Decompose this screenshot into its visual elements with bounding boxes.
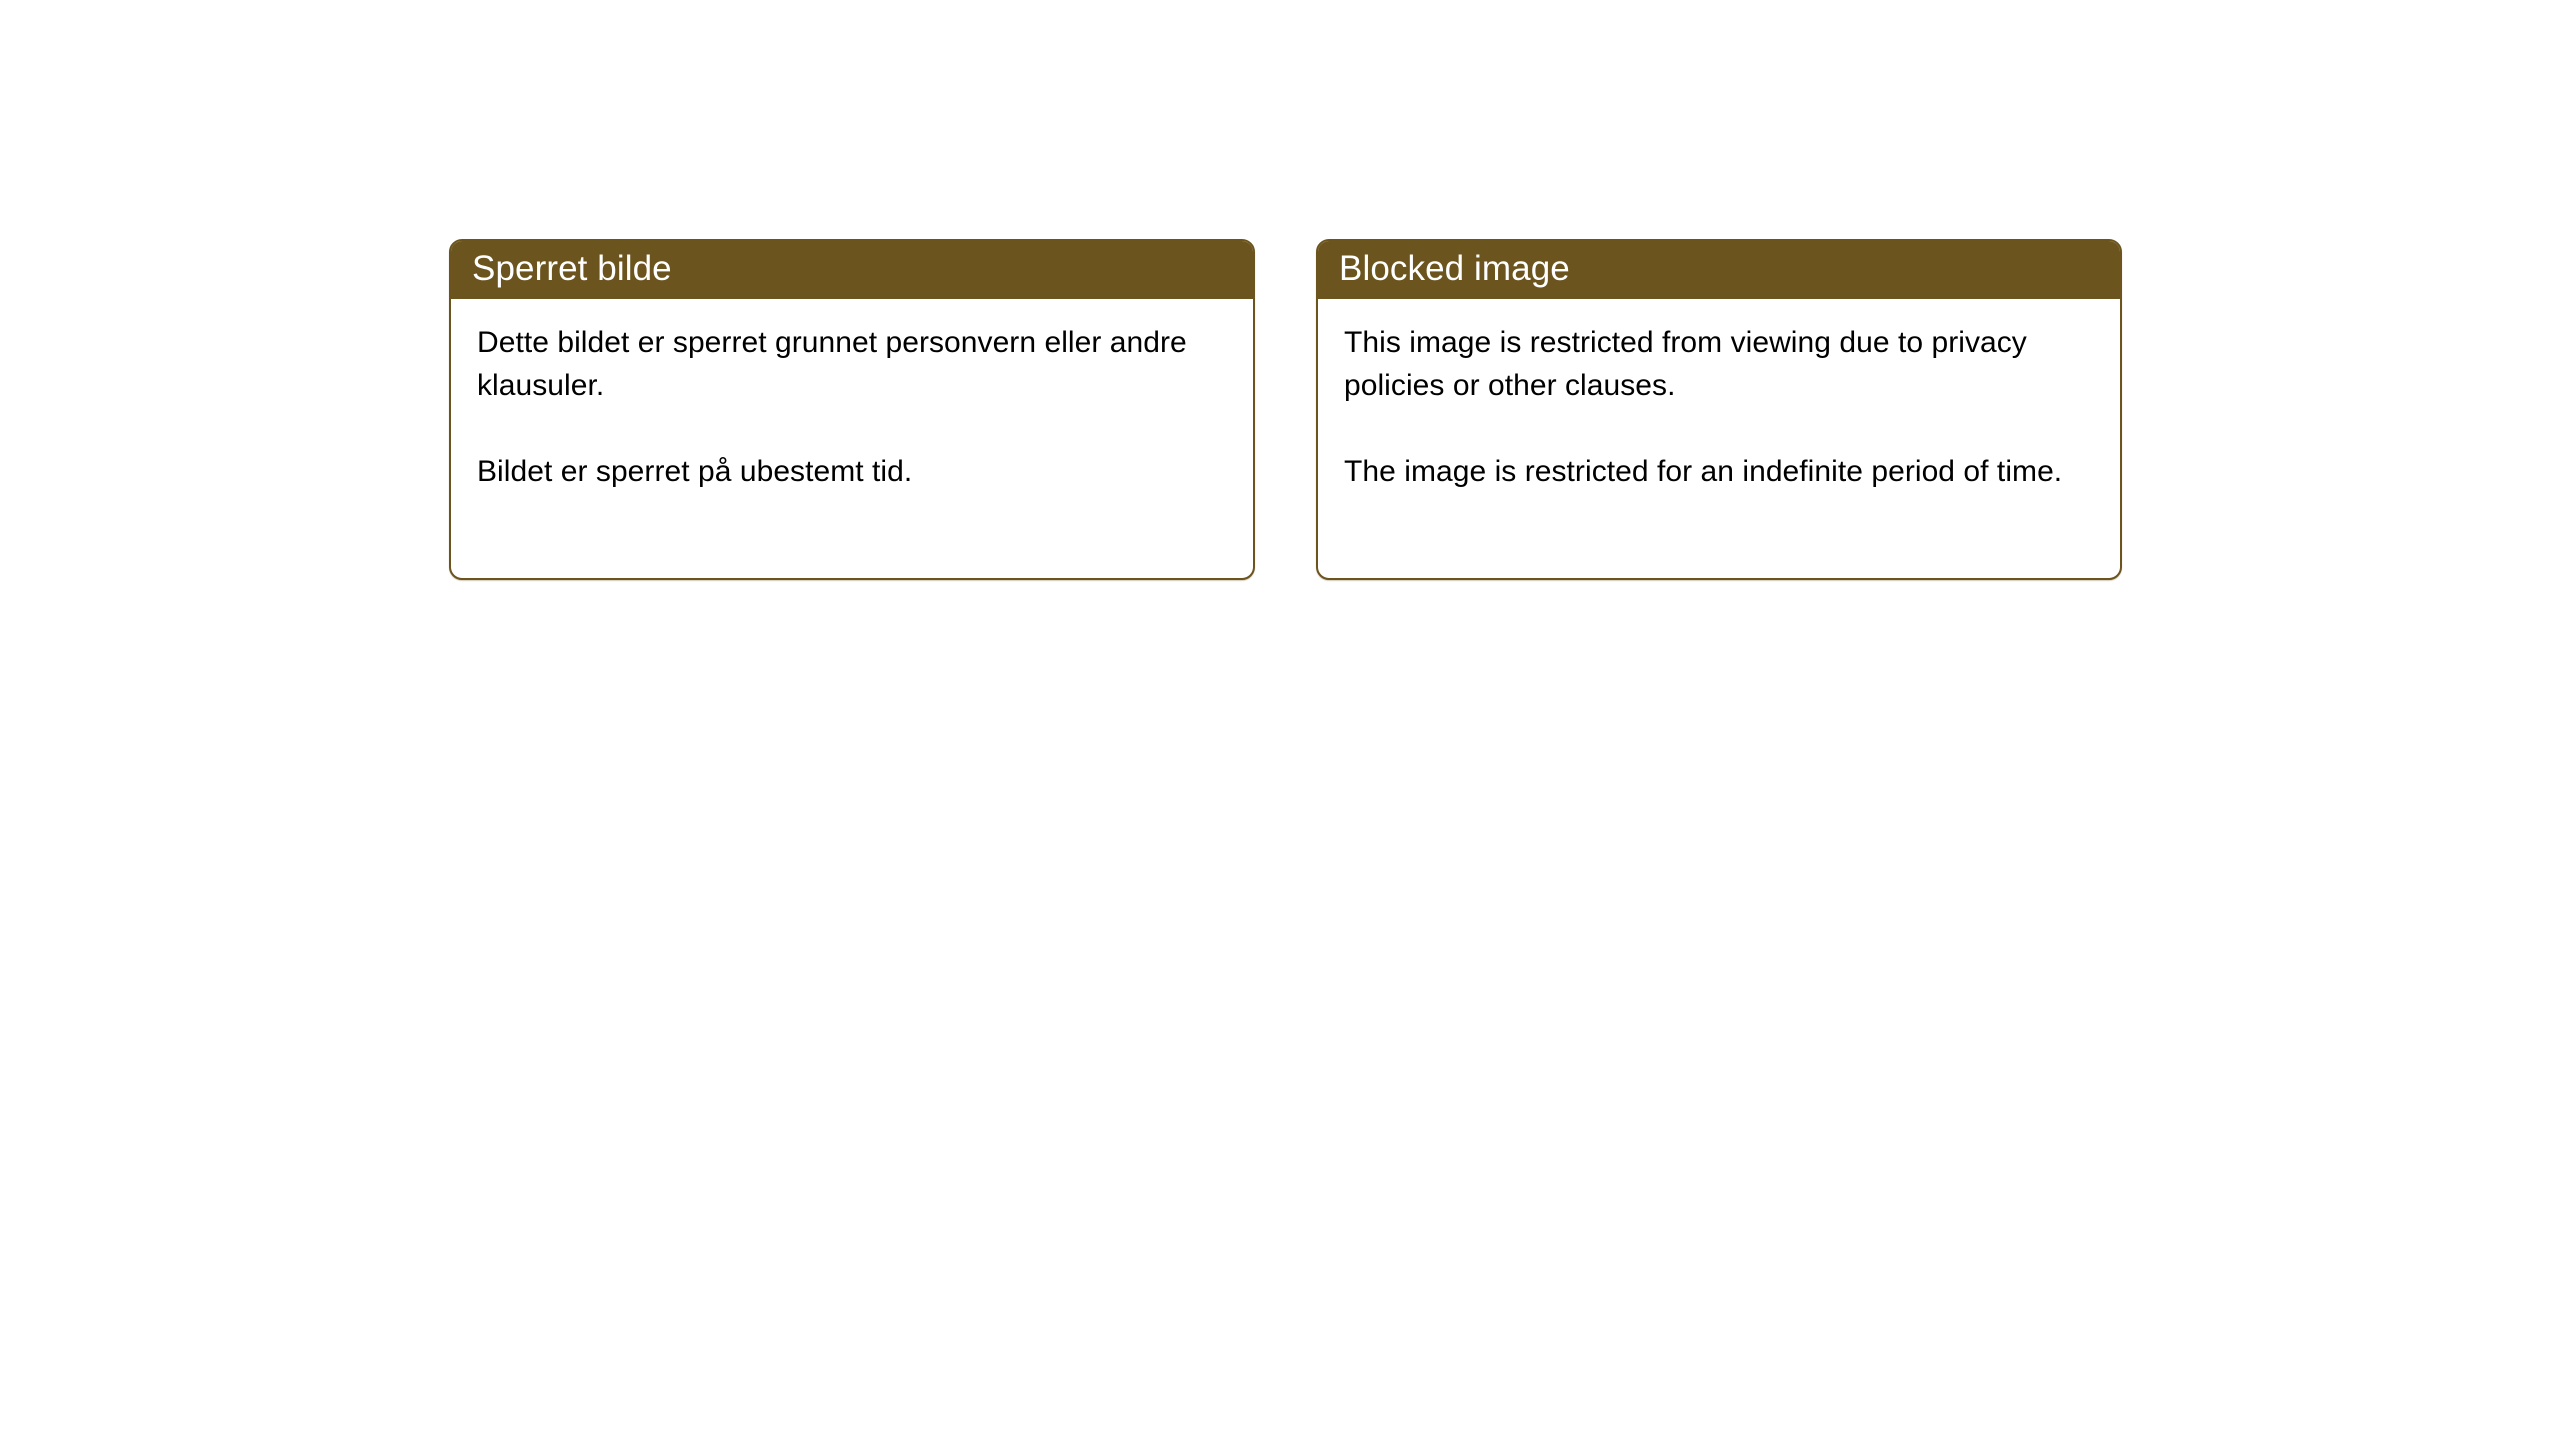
card-paragraph-no-2: Bildet er sperret på ubestemt tid. [477, 450, 1227, 493]
blocked-image-notice-card-en: Blocked image This image is restricted f… [1316, 239, 2122, 580]
card-paragraph-en-2: The image is restricted for an indefinit… [1344, 450, 2094, 493]
card-title-no: Sperret bilde [472, 249, 672, 289]
page-root: Sperret bilde Dette bildet er sperret gr… [0, 0, 2560, 1440]
card-paragraph-en-1: This image is restricted from viewing du… [1344, 321, 2094, 407]
card-body-en: This image is restricted from viewing du… [1318, 299, 2120, 493]
paragraph-spacer-no [477, 407, 1227, 450]
paragraph-spacer-en [1344, 407, 2094, 450]
card-title-en: Blocked image [1339, 249, 1570, 289]
notice-card-group: Sperret bilde Dette bildet er sperret gr… [449, 239, 2122, 580]
card-header-en: Blocked image [1316, 239, 2122, 299]
card-header-no: Sperret bilde [449, 239, 1255, 299]
blocked-image-notice-card-no: Sperret bilde Dette bildet er sperret gr… [449, 239, 1255, 580]
card-paragraph-no-1: Dette bildet er sperret grunnet personve… [477, 321, 1227, 407]
card-body-no: Dette bildet er sperret grunnet personve… [451, 299, 1253, 493]
